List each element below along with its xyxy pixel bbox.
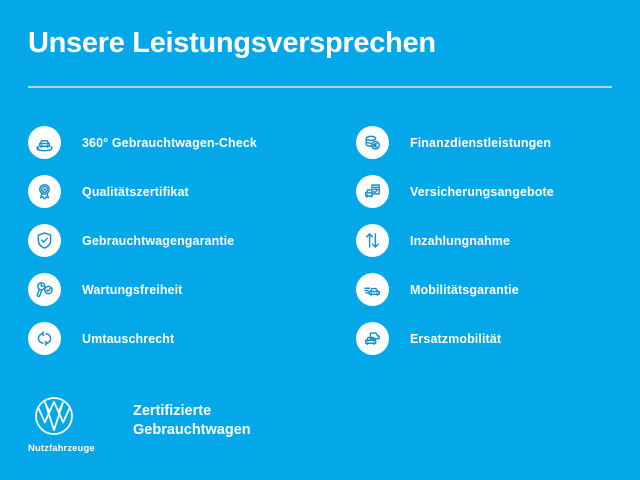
promise-label: Finanzdienstleistungen — [410, 136, 551, 150]
car-motion-icon — [356, 273, 389, 306]
promise-label: Gebrauchtwagengarantie — [82, 234, 234, 248]
promise-label: Wartungsfreiheit — [82, 283, 182, 297]
promise-item-umtauschrecht: Umtauschrecht — [28, 314, 318, 363]
footer-claim: Zertifizierte Gebrauchtwagen — [133, 402, 251, 440]
promise-item-mobilitaetsgarantie: Mobilitätsgarantie — [356, 265, 640, 314]
promises-column-right: Finanzdienstleistungen Versicherungsange… — [356, 118, 640, 363]
promise-item-qualitaetszertifikat: Qualitätszertifikat — [28, 167, 318, 216]
header: Unsere Leistungsversprechen — [28, 26, 612, 60]
car-360-check-icon — [28, 126, 61, 159]
award-rosette-icon — [28, 175, 61, 208]
wrench-check-icon — [28, 273, 61, 306]
car-document-check-icon — [356, 175, 389, 208]
promise-item-wartungsfreiheit: Wartungsfreiheit — [28, 265, 318, 314]
footer-claim-line-2: Gebrauchtwagen — [133, 421, 251, 440]
promise-item-ersatzmobilitaet: Ersatzmobilität — [356, 314, 640, 363]
shield-check-icon — [28, 224, 61, 257]
title-divider — [28, 86, 612, 88]
promises-column-left: 360° Gebrauchtwagen-Check Qualitätszerti… — [28, 118, 318, 363]
promise-label: Umtauschrecht — [82, 332, 174, 346]
footer: Nutzfahrzeuge Zertifizierte Gebrauchtwag… — [28, 396, 251, 454]
promise-label: Mobilitätsgarantie — [410, 283, 519, 297]
promise-item-inzahlungnahme: Inzahlungnahme — [356, 216, 640, 265]
footer-claim-line-1: Zertifizierte — [133, 402, 251, 421]
volkswagen-logo — [34, 396, 74, 436]
coins-euro-icon — [356, 126, 389, 159]
promise-item-gebrauchtwagen-check: 360° Gebrauchtwagen-Check — [28, 118, 318, 167]
brand-subline: Nutzfahrzeuge — [28, 443, 100, 454]
promise-label: Inzahlungnahme — [410, 234, 510, 248]
brand-block: Nutzfahrzeuge — [28, 396, 100, 454]
promise-item-versicherungsangebote: Versicherungsangebote — [356, 167, 640, 216]
two-cars-icon — [356, 322, 389, 355]
promise-label: Ersatzmobilität — [410, 332, 501, 346]
promise-label: Qualitätszertifikat — [82, 185, 189, 199]
promises-grid: 360° Gebrauchtwagen-Check Qualitätszerti… — [0, 118, 640, 368]
exchange-arrows-icon — [28, 322, 61, 355]
arrows-up-down-icon — [356, 224, 389, 257]
promise-label: Versicherungsangebote — [410, 185, 554, 199]
page-title: Unsere Leistungsversprechen — [28, 26, 612, 60]
promise-label: 360° Gebrauchtwagen-Check — [82, 136, 257, 150]
promise-item-gebrauchtwagengarantie: Gebrauchtwagengarantie — [28, 216, 318, 265]
promise-poster: Unsere Leistungsversprechen 360° — [0, 0, 640, 480]
promise-item-finanzdienstleistungen: Finanzdienstleistungen — [356, 118, 640, 167]
